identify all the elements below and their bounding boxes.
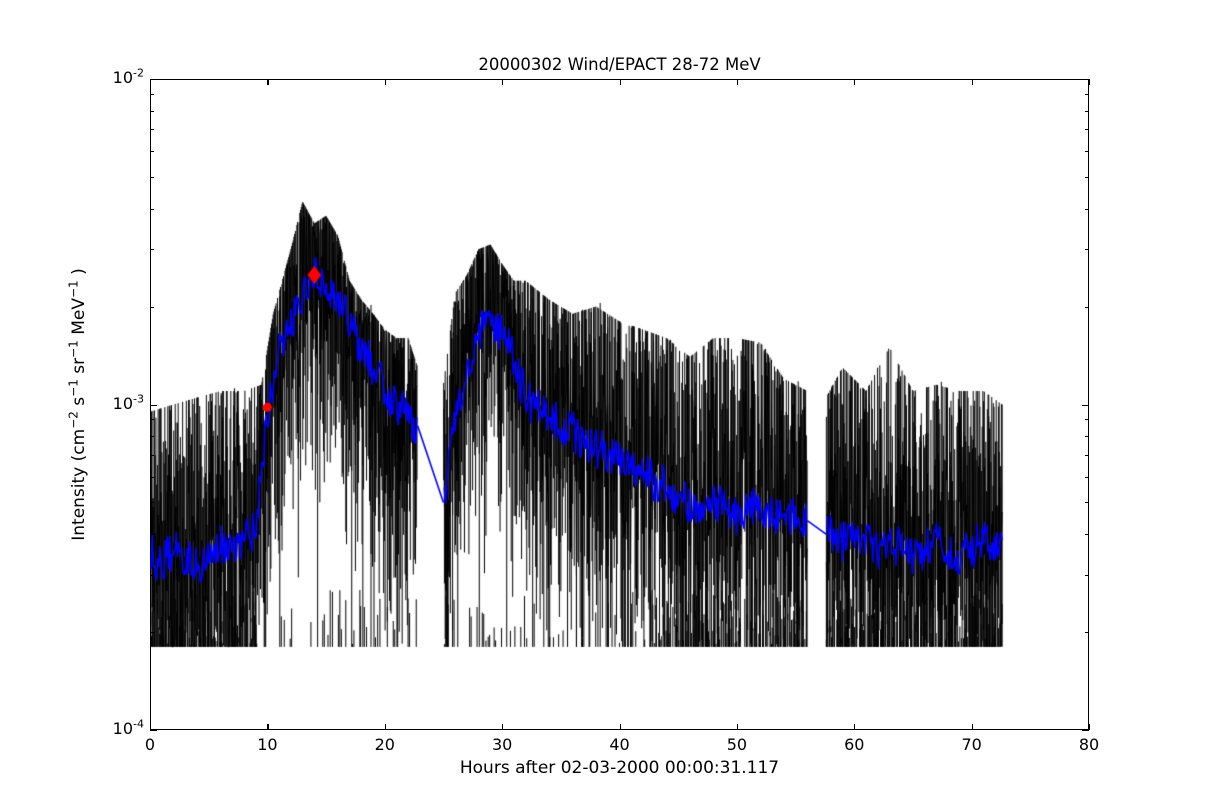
tick-mark bbox=[385, 79, 386, 85]
tick-mark bbox=[150, 730, 157, 731]
tick-mark bbox=[150, 129, 154, 130]
ylabel-prefix: Intensity (cm bbox=[69, 429, 89, 541]
tick-mark bbox=[1085, 502, 1089, 503]
x-tick-label: 80 bbox=[1054, 735, 1124, 754]
tick-mark bbox=[1085, 632, 1089, 633]
tick-mark bbox=[972, 724, 973, 730]
tick-mark bbox=[150, 249, 154, 250]
tick-mark bbox=[502, 724, 503, 730]
matplotlib-figure: 20000302 Wind/EPACT 28-72 MeV 0102030405… bbox=[0, 0, 1212, 812]
tick-mark bbox=[1089, 724, 1090, 730]
tick-mark bbox=[737, 724, 738, 730]
tick-mark bbox=[502, 79, 503, 85]
x-tick-label: 20 bbox=[350, 735, 420, 754]
tick-mark bbox=[1085, 209, 1089, 210]
tick-mark bbox=[620, 79, 621, 85]
ylabel-s2: sr bbox=[69, 358, 89, 379]
tick-mark bbox=[150, 111, 154, 112]
ylabel-exp-4: −1 bbox=[66, 280, 80, 298]
ylabel-exp-3: −1 bbox=[66, 340, 80, 358]
x-tick-label: 40 bbox=[585, 735, 655, 754]
tick-mark bbox=[150, 477, 154, 478]
tick-mark bbox=[150, 436, 154, 437]
tick-mark bbox=[150, 534, 154, 535]
tick-mark bbox=[150, 455, 154, 456]
tick-mark bbox=[385, 724, 386, 730]
tick-mark bbox=[620, 724, 621, 730]
tick-mark bbox=[854, 79, 855, 85]
x-tick-label: 10 bbox=[232, 735, 302, 754]
tick-mark bbox=[1085, 477, 1089, 478]
tick-mark bbox=[1085, 177, 1089, 178]
tick-mark bbox=[1085, 129, 1089, 130]
plot-area bbox=[150, 79, 1089, 730]
y-axis-label: Intensity (cm−2 s−1 sr−1 MeV−1 ) bbox=[62, 79, 96, 730]
tick-mark bbox=[737, 79, 738, 85]
tick-mark bbox=[267, 79, 268, 85]
tick-mark bbox=[1085, 111, 1089, 112]
tick-mark bbox=[1089, 79, 1090, 85]
tick-mark bbox=[150, 502, 154, 503]
tick-mark bbox=[150, 151, 154, 152]
tick-mark bbox=[1085, 151, 1089, 152]
ylabel-exp-2: −1 bbox=[66, 379, 80, 397]
tick-mark bbox=[150, 79, 157, 80]
tick-mark bbox=[1085, 307, 1089, 308]
tick-mark bbox=[150, 575, 154, 576]
tick-mark bbox=[1082, 79, 1089, 80]
tick-mark bbox=[150, 209, 154, 210]
ylabel-exp-1: −2 bbox=[66, 411, 80, 429]
tick-mark bbox=[1085, 534, 1089, 535]
tick-mark bbox=[1085, 249, 1089, 250]
tick-mark bbox=[1082, 405, 1089, 406]
ylabel-s3: MeV bbox=[69, 298, 89, 340]
tick-mark bbox=[1085, 455, 1089, 456]
tick-mark bbox=[1085, 436, 1089, 437]
x-tick-label: 50 bbox=[702, 735, 772, 754]
tick-mark bbox=[1085, 419, 1089, 420]
tick-mark bbox=[150, 632, 154, 633]
figure-canvas: 20000302 Wind/EPACT 28-72 MeV 0102030405… bbox=[0, 0, 1212, 812]
ylabel-suffix: ) bbox=[69, 268, 89, 280]
tick-mark bbox=[1085, 575, 1089, 576]
tick-mark bbox=[150, 405, 157, 406]
chart-title: 20000302 Wind/EPACT 28-72 MeV bbox=[150, 55, 1089, 74]
tick-mark bbox=[972, 79, 973, 85]
x-tick-label: 70 bbox=[937, 735, 1007, 754]
tick-mark bbox=[150, 419, 154, 420]
tick-mark bbox=[1082, 730, 1089, 731]
tick-mark bbox=[150, 177, 154, 178]
ylabel-s1: s bbox=[69, 397, 89, 411]
x-tick-label: 30 bbox=[467, 735, 537, 754]
x-tick-label: 60 bbox=[819, 735, 889, 754]
tick-mark bbox=[150, 94, 154, 95]
tick-mark bbox=[150, 307, 154, 308]
x-axis-label: Hours after 02-03-2000 00:00:31.117 bbox=[150, 758, 1089, 778]
tick-mark bbox=[854, 724, 855, 730]
tick-mark bbox=[267, 724, 268, 730]
tick-mark bbox=[1085, 94, 1089, 95]
